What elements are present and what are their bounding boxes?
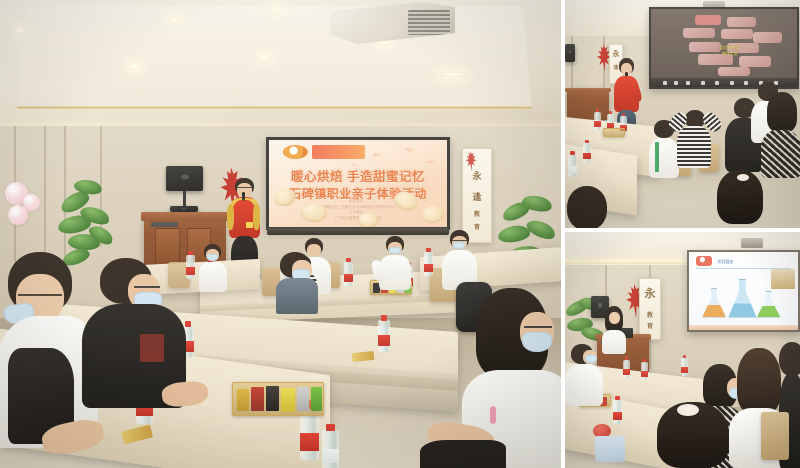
audience-hair [767, 92, 797, 132]
glasses-icon [237, 187, 252, 188]
glasses-icon [18, 294, 62, 296]
balloon-decoration [8, 205, 28, 225]
volume-icon[interactable] [701, 81, 705, 85]
lab-slide: 实验器皿 [689, 252, 798, 330]
downlight-icon [168, 16, 181, 23]
event-wordmark [312, 145, 365, 159]
shirt-graphic [140, 334, 164, 362]
shirt-graphic [490, 406, 496, 424]
loudspeaker [166, 166, 203, 191]
glasses-icon [524, 326, 552, 328]
bread-illustration [421, 205, 445, 225]
next-icon[interactable] [744, 81, 748, 85]
slide-photo [771, 269, 795, 289]
participant [198, 244, 228, 292]
flask-icon [702, 288, 726, 318]
downlight-icon [270, 5, 283, 12]
downlight-icon [14, 27, 27, 34]
podium-nameplate [151, 222, 179, 227]
slide-title-line1: 暖心烘焙 手造甜蜜记忆 [280, 170, 437, 186]
audience-head [779, 342, 800, 376]
settings-icon[interactable] [715, 81, 719, 85]
downlight-icon [258, 54, 271, 61]
water-bottle [594, 112, 601, 130]
chair [761, 412, 789, 460]
wall-monitor [565, 44, 575, 62]
flask-icon [757, 291, 781, 318]
video-thumbnail [727, 17, 756, 27]
water-bottle [568, 155, 577, 177]
downlight-icon [128, 63, 141, 70]
face-mask [585, 355, 597, 363]
audience-member-foreground [713, 170, 769, 228]
face-mask [207, 254, 218, 261]
water-bottle [583, 143, 591, 163]
volunteer-speaker [613, 58, 641, 130]
audience-member [565, 344, 605, 406]
banner-glyph: 教 [647, 310, 653, 319]
snack-item [311, 387, 322, 411]
bottom-right-photo: 实验器皿 永 教 育 [565, 232, 800, 468]
projector-mount [741, 238, 763, 248]
video-thumbnail [739, 56, 771, 67]
snack-item [281, 388, 295, 412]
tissue-box [595, 436, 625, 462]
face-mask [522, 332, 552, 352]
top-right-photo: 面包的种类 制作工艺 [565, 0, 800, 228]
table-runner [200, 294, 455, 312]
speaker-arm [253, 204, 260, 230]
audience-member [677, 106, 713, 168]
audience-member-foreground [565, 186, 617, 228]
bottom-right-scene: 实验器皿 永 教 育 [565, 232, 800, 468]
fullscreen-icon[interactable] [730, 81, 734, 85]
bird-icon [372, 151, 383, 160]
snack-basket [603, 128, 625, 137]
banner-glyph: 永 [645, 285, 656, 301]
face-mask [453, 242, 465, 249]
video-thumbnail [721, 29, 753, 39]
child-participant [276, 252, 322, 314]
photo-collage: 暖心烘焙 手造甜蜜记忆 石碑镇职业亲子体验活动 指导单位： 石碑镇社会工作委员会… [0, 0, 800, 468]
snack-item [237, 389, 249, 411]
participant [378, 236, 412, 290]
banner-glyph: 逢 [472, 190, 481, 203]
video-thumbnail [695, 15, 721, 24]
face-mask [389, 247, 401, 254]
main-photo: 暖心烘焙 手造甜蜜记忆 石碑镇职业亲子体验活动 指导单位： 石碑镇社会工作委员会… [0, 0, 561, 468]
snack-item [266, 386, 279, 411]
bread-illustration [358, 213, 379, 227]
water-bottle [424, 252, 433, 276]
glasses-icon [134, 286, 160, 288]
vertical-banner: 永 逢 教 育 [462, 148, 492, 243]
participant-body [199, 262, 227, 292]
projection-screen: 面包的种类 制作工艺 [649, 7, 799, 89]
presenter-face [609, 312, 620, 324]
presenter-body [602, 330, 626, 354]
snack-item [297, 387, 309, 411]
video-caption-block: 面包的种类 制作工艺 [704, 45, 757, 57]
microphone-icon [242, 192, 245, 201]
flask-icon [728, 279, 756, 318]
audience-body [677, 126, 711, 168]
lanyard [655, 142, 659, 172]
stop-button-icon[interactable] [686, 81, 690, 85]
bird-icon [404, 146, 415, 153]
snack-item [251, 387, 264, 411]
snack-basket [232, 382, 324, 416]
projection-screen: 暖心烘焙 手造甜蜜记忆 石碑镇职业亲子体验活动 指导单位： 石碑镇社会工作委员会… [266, 137, 450, 230]
video-thumbnail [718, 67, 750, 76]
water-bottle [344, 262, 353, 286]
linear-light-icon [440, 72, 466, 77]
water-bottle [613, 400, 622, 424]
audience-hair [737, 348, 781, 414]
banner-glyph: 育 [647, 321, 653, 330]
speaker-arm [227, 204, 234, 230]
pause-button-icon[interactable] [674, 81, 678, 85]
banner-glyph: 永 [472, 169, 481, 182]
foreground-participant-center [78, 258, 188, 408]
projection-screen: 实验器皿 [687, 250, 800, 332]
event-banner-slide: 暖心烘焙 手造甜蜜记忆 石碑镇职业亲子体验活动 指导单位： 石碑镇社会工作委员会… [269, 140, 447, 227]
foreground-participant-right [462, 288, 561, 468]
participant [440, 230, 478, 290]
water-bottle [641, 362, 648, 380]
video-thumbnail [683, 28, 715, 38]
vest-badge [246, 222, 253, 228]
water-bottle [378, 320, 390, 352]
slide-footer-bar [689, 325, 798, 330]
water-bottle [623, 360, 630, 378]
hair-clip [677, 404, 699, 416]
lab-slide-heading: 实验器皿 [717, 259, 733, 265]
video-caption-line: 制作工艺 [704, 51, 757, 57]
slide-logo-icon [696, 256, 712, 266]
hair-clip [737, 174, 749, 181]
bird-icon [425, 159, 436, 166]
audience-member-foreground [653, 402, 737, 468]
top-right-scene: 面包的种类 制作工艺 [565, 0, 800, 228]
participant-lap [420, 440, 506, 468]
audience-body [565, 364, 603, 406]
play-button-icon[interactable] [663, 81, 667, 85]
video-thumbnail [753, 32, 782, 42]
organization-logo-icon [283, 145, 308, 159]
main-scene: 暖心烘焙 手造甜蜜记忆 石碑镇职业亲子体验活动 指导单位： 石碑镇社会工作委员会… [0, 0, 561, 468]
video-slide: 面包的种类 制作工艺 [651, 9, 797, 87]
audience-member [761, 92, 800, 178]
child-body [276, 278, 318, 314]
audience-body [649, 138, 679, 178]
podium [567, 88, 609, 120]
glasses-icon [452, 240, 467, 241]
water-bottle [681, 358, 688, 376]
audience-head [567, 186, 607, 228]
banner-glyph: 教 [474, 209, 480, 218]
banner-emblem-icon [465, 151, 477, 171]
bird-icon [350, 162, 358, 168]
vertical-banner: 永 教 育 [639, 278, 661, 340]
plant-leaf [524, 216, 558, 243]
screen-bottom-bar [267, 228, 449, 235]
water-bottle [322, 430, 339, 468]
